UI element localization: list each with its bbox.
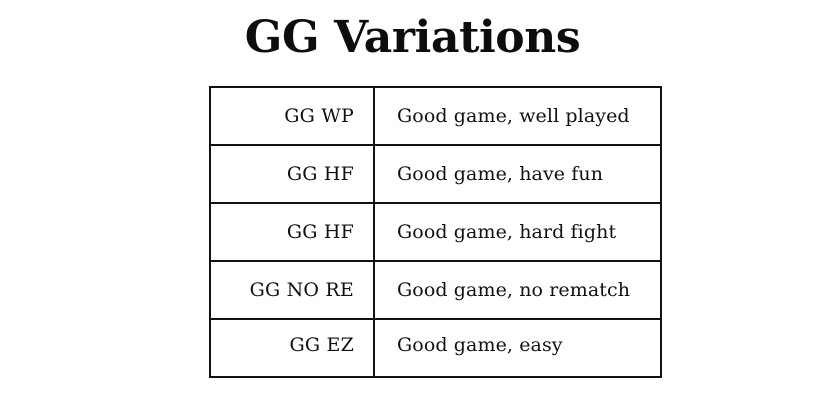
abbreviation-cell: GG EZ [210,319,374,377]
table-row: GG EZ Good game, easy [210,319,661,377]
table-row: GG WP Good game, well played [210,87,661,145]
meaning-cell: Good game, have fun [374,145,661,203]
page-root: GG Variations GG WP Good game, well play… [0,0,825,413]
page-title: GG Variations [0,11,825,65]
table-row: GG HF Good game, hard fight [210,203,661,261]
meaning-cell: Good game, no rematch [374,261,661,319]
meaning-cell: Good game, well played [374,87,661,145]
abbreviation-cell: GG WP [210,87,374,145]
meaning-cell: Good game, easy [374,319,661,377]
abbreviation-cell: GG NO RE [210,261,374,319]
table-row: GG HF Good game, have fun [210,145,661,203]
abbreviation-cell: GG HF [210,203,374,261]
gg-variations-table: GG WP Good game, well played GG HF Good … [209,86,662,378]
abbreviation-cell: GG HF [210,145,374,203]
table-row: GG NO RE Good game, no rematch [210,261,661,319]
meaning-cell: Good game, hard fight [374,203,661,261]
gg-variations-table-wrapper: GG WP Good game, well played GG HF Good … [209,86,615,377]
table-body: GG WP Good game, well played GG HF Good … [210,87,661,377]
